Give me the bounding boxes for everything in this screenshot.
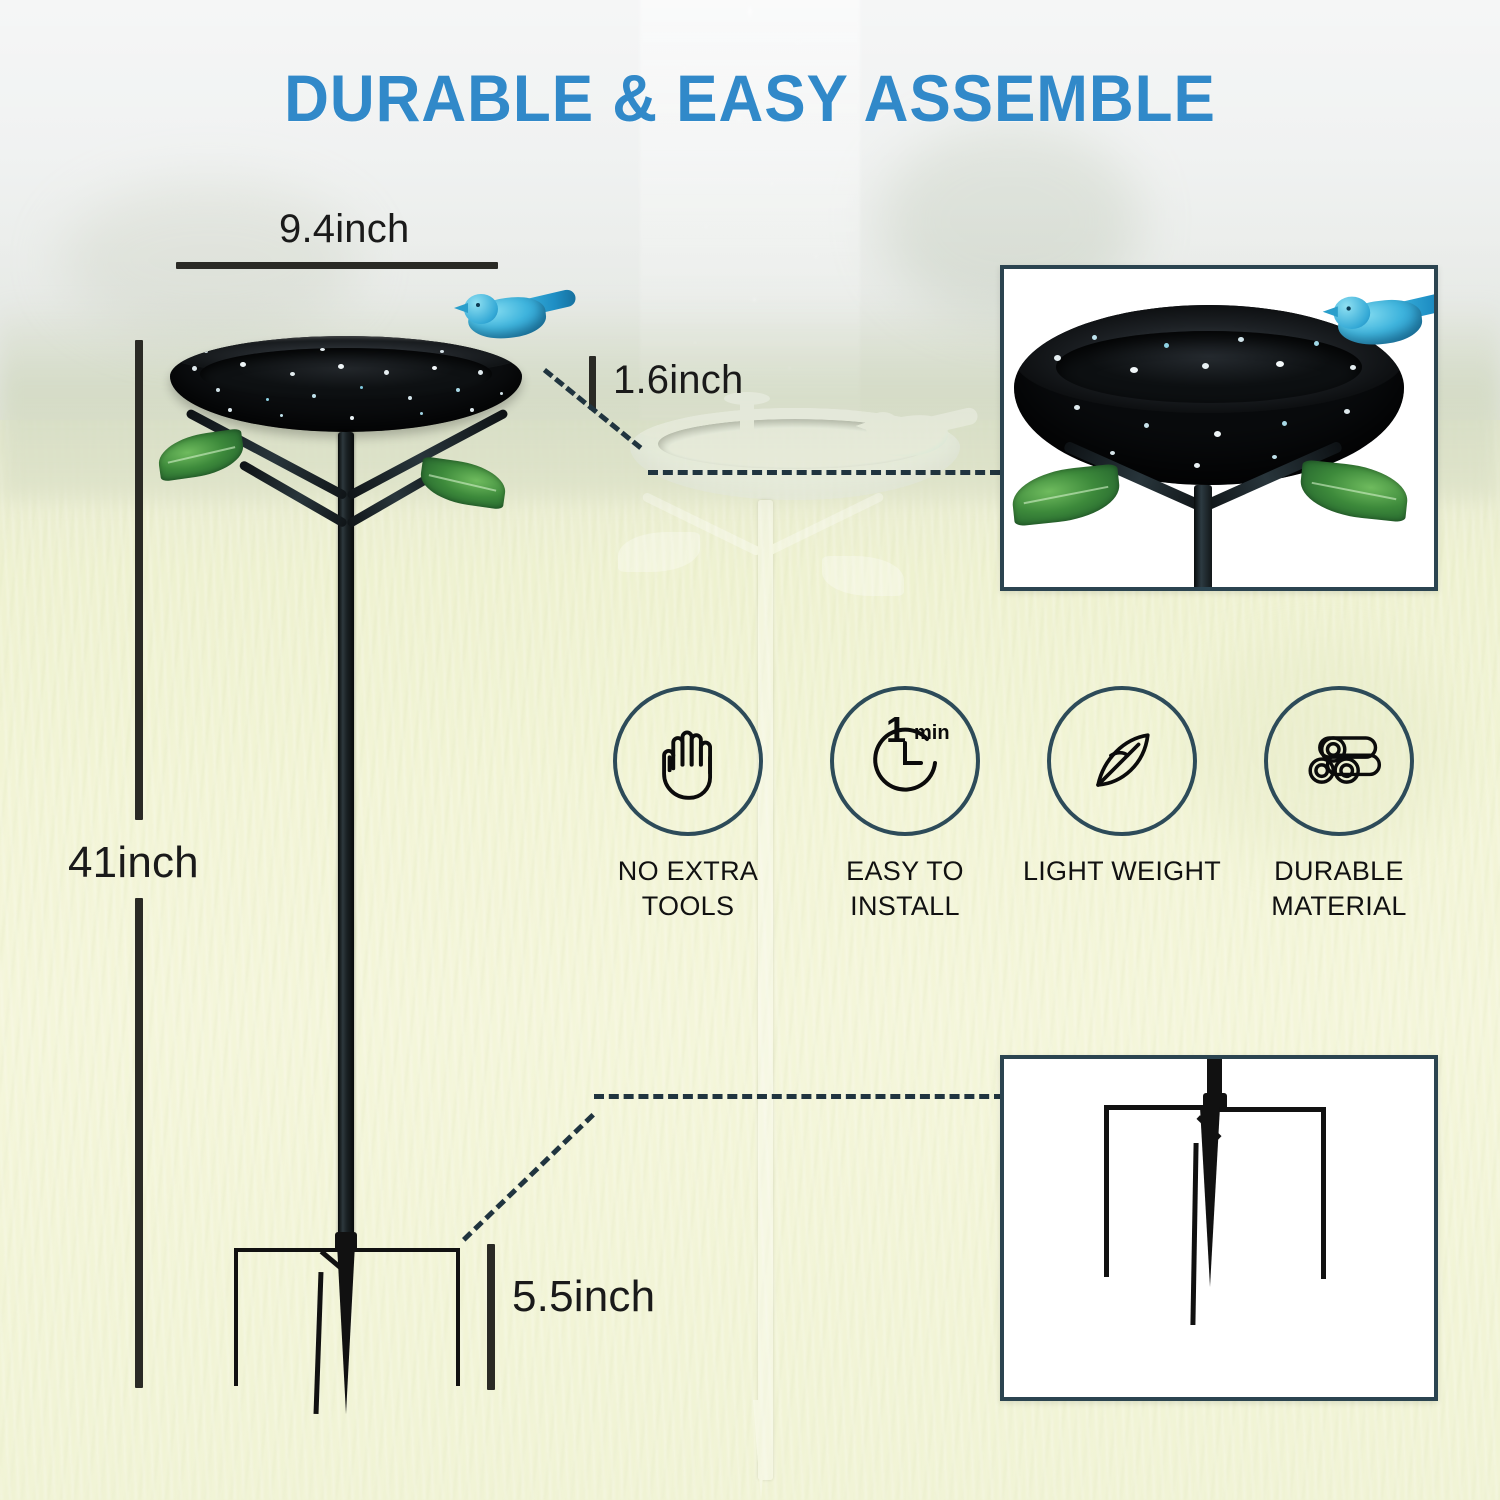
page-title: DURABLE & EASY ASSEMBLE: [45, 60, 1455, 136]
feature-caption-durable-material: DURABLE MATERIAL: [1239, 854, 1439, 923]
inset-bowl-interior: [1056, 331, 1362, 403]
feature-easy-to-install[interactable]: 1 min EASY TO INSTALL: [805, 686, 1005, 923]
dimension-bar-height-lower: [135, 898, 143, 1388]
feature-caption-no-extra-tools: NO EXTRA TOOLS: [588, 854, 788, 923]
bird-head: [464, 294, 498, 324]
support-pole: [338, 432, 354, 1252]
bird-eye: [476, 303, 480, 307]
dimension-label-width: 9.4inch: [279, 207, 409, 252]
ghost-bird: [862, 402, 978, 468]
feature-circle-light-weight: [1047, 686, 1197, 836]
clock-badge-unit: min: [914, 723, 950, 743]
infographic-canvas: DURABLE & EASY ASSEMBLE: [0, 0, 1500, 1500]
ghost-pole: [758, 500, 773, 1480]
stake-prong-far-left: [234, 1250, 238, 1386]
inset-stake-closeup: [1000, 1055, 1438, 1401]
feature-caption-easy-to-install: EASY TO INSTALL: [805, 854, 1005, 923]
stake-collar: [335, 1232, 357, 1252]
inset-bird: [1329, 286, 1438, 372]
dimension-bar-bowl-depth: [589, 356, 596, 410]
feature-circle-durable-material: [1264, 686, 1414, 836]
feature-line1: LIGHT WEIGHT: [1022, 854, 1222, 889]
inset-center-spike: [1200, 1107, 1220, 1287]
feature-line1: EASY TO: [805, 854, 1005, 889]
feather-icon: [1076, 715, 1168, 807]
leader-line-bowl-horizontal: [648, 470, 1000, 475]
dimension-bar-width: [176, 262, 498, 269]
dimension-label-bowl-depth: 1.6inch: [613, 358, 743, 403]
leader-line-stake-horizontal: [594, 1094, 1004, 1099]
inset-pole: [1194, 485, 1212, 591]
feature-durable-material[interactable]: DURABLE MATERIAL: [1239, 686, 1439, 923]
feature-line1: NO EXTRA: [588, 854, 788, 889]
feature-light-weight[interactable]: LIGHT WEIGHT: [1022, 686, 1222, 889]
feature-row: NO EXTRA TOOLS 1 min EASY TO INSTALL: [588, 686, 1448, 936]
ghost-fountain-stem: [740, 400, 754, 446]
hand-icon: [642, 715, 734, 807]
pipes-icon: [1291, 713, 1387, 809]
feature-no-extra-tools[interactable]: NO EXTRA TOOLS: [588, 686, 788, 923]
inset-stake-arm-right: [1216, 1107, 1326, 1112]
inset-stake-arm-left: [1104, 1105, 1214, 1110]
inset-prong-far-right: [1321, 1109, 1326, 1279]
clock-badge-number: 1: [886, 712, 906, 748]
inset-prong-far-left: [1104, 1107, 1109, 1277]
dimension-label-height: 41inch: [68, 838, 199, 888]
bird-beak: [454, 303, 468, 313]
stake-prong-far-right: [456, 1250, 460, 1386]
decorative-bird: [460, 284, 576, 350]
feature-line2: MATERIAL: [1239, 889, 1439, 924]
stake-arm-right: [348, 1248, 460, 1252]
feature-line1: DURABLE: [1239, 854, 1439, 889]
feature-line2: INSTALL: [805, 889, 1005, 924]
feature-line2: TOOLS: [588, 889, 788, 924]
feature-circle-easy-to-install: 1 min: [830, 686, 980, 836]
stake-arm-left: [234, 1248, 346, 1252]
dimension-bar-height-upper: [135, 340, 143, 820]
feature-circle-no-extra-tools: [613, 686, 763, 836]
ghost-spike: [753, 1400, 769, 1500]
stake-center-spike: [337, 1244, 355, 1414]
feature-caption-light-weight: LIGHT WEIGHT: [1022, 854, 1222, 889]
dimension-label-stake: 5.5inch: [512, 1272, 655, 1322]
inset-bowl-closeup: [1000, 265, 1438, 591]
bowl-interior: [200, 348, 492, 400]
dimension-bar-stake: [487, 1244, 495, 1390]
